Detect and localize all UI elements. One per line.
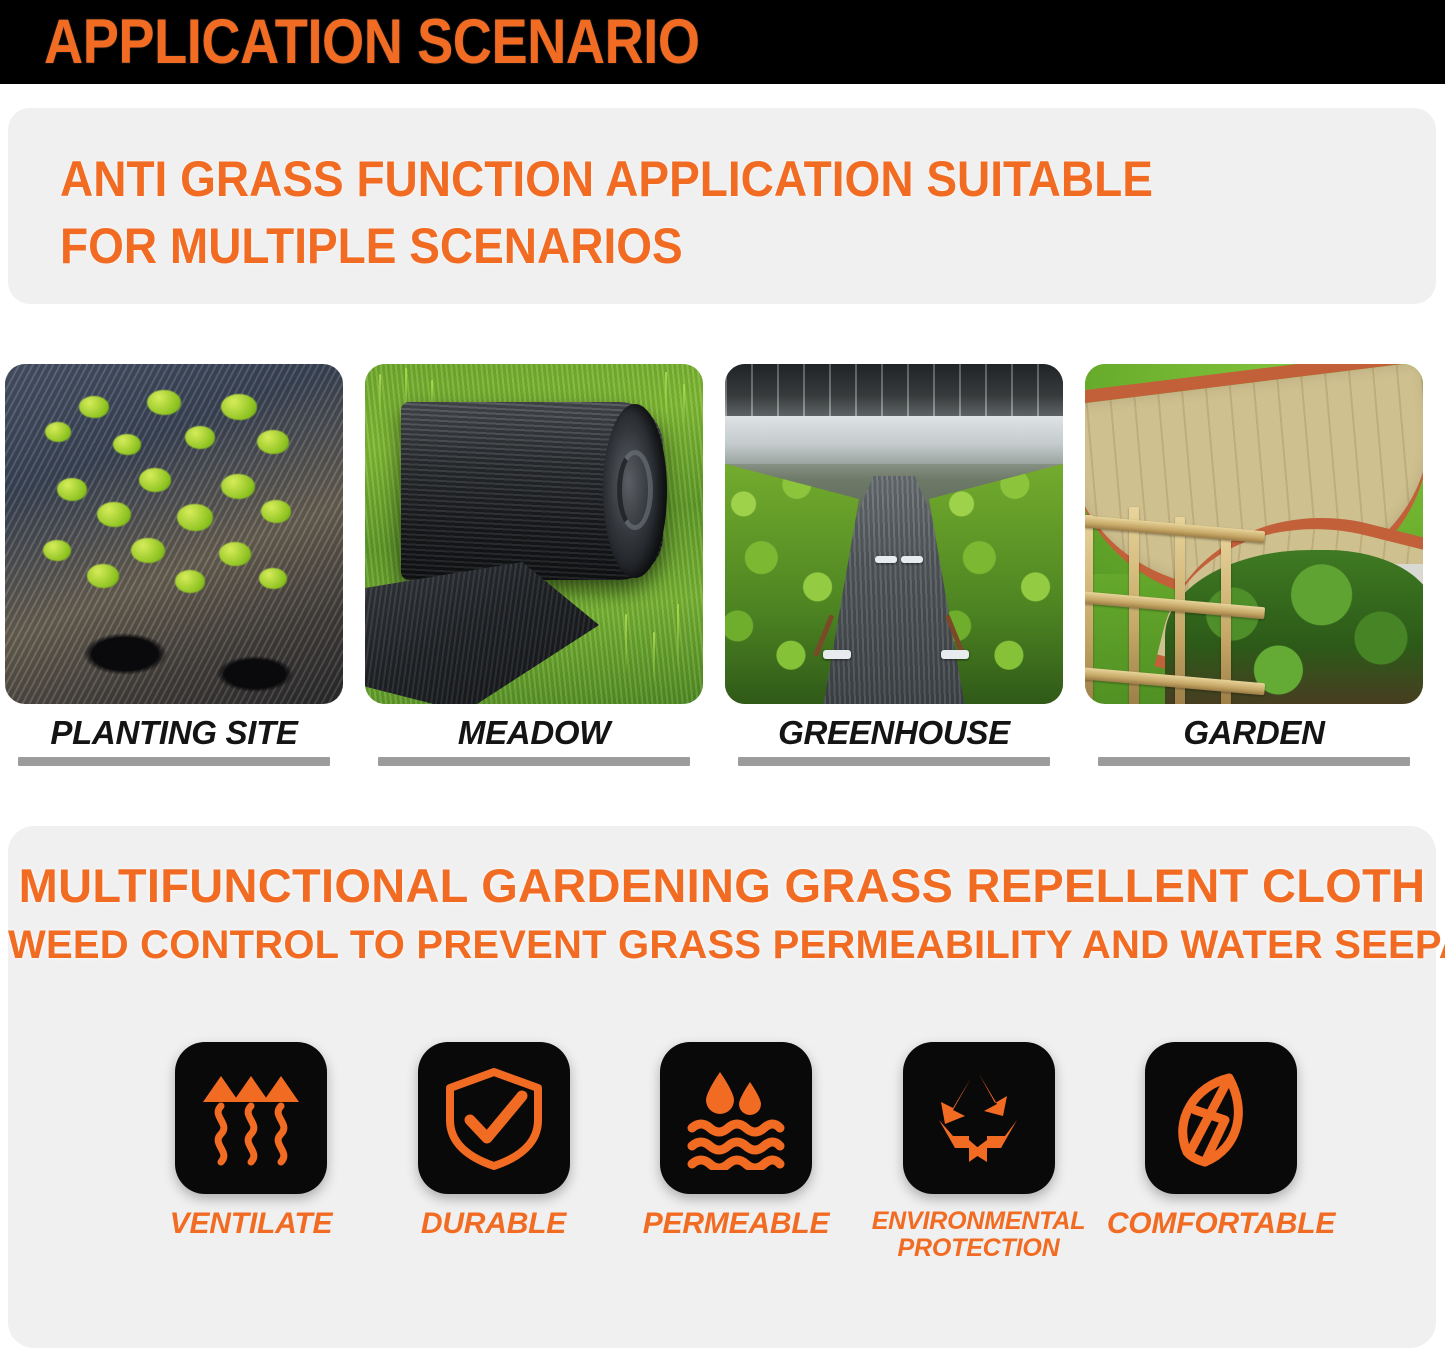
unrolled-fabric-sheet (365, 562, 599, 704)
ventilate-label: VENTILATE (170, 1208, 333, 1240)
greenhouse-roof (725, 364, 1063, 416)
fabric-roll (401, 402, 663, 580)
greenhouse-background (725, 412, 1063, 464)
feature-item-environmental-protection: ENVIRONMENTAL PROTECTION (884, 1042, 1074, 1261)
environmental-protection-tile (903, 1042, 1055, 1194)
recycle-icon (927, 1066, 1031, 1170)
caption-label: GARDEN (1085, 716, 1423, 751)
feature-icon-row: VENTILATE DURABLE (156, 1042, 1316, 1261)
feature-subhead: WEED CONTROL TO PREVENT GRASS PERMEABILI… (8, 923, 1436, 968)
scenario-card-greenhouse (725, 364, 1063, 704)
caption-label: PLANTING SITE (5, 716, 343, 751)
caption-garden: GARDEN (1085, 716, 1423, 784)
roll-spiral (617, 450, 653, 530)
wooden-trellis (1085, 495, 1279, 704)
caption-underline (1098, 757, 1410, 766)
greenhouse-photo (725, 364, 1063, 704)
infographic-page: APPLICATION SCENARIO ANTI GRASS FUNCTION… (0, 0, 1445, 1353)
caption-label: GREENHOUSE (725, 716, 1063, 751)
durable-label: DURABLE (421, 1208, 566, 1240)
page-title: APPLICATION SCENARIO (44, 11, 700, 74)
scenario-caption-row: PLANTING SITE MEADOW GREENHOUSE GARDEN (5, 716, 1441, 784)
caption-meadow: MEADOW (365, 716, 703, 784)
comfortable-label: COMFORTABLE (1107, 1208, 1335, 1240)
scenario-card-planting-site (5, 364, 343, 704)
caption-underline (378, 757, 690, 766)
permeable-label: PERMEABLE (643, 1208, 830, 1240)
feature-item-permeable: PERMEABLE (641, 1042, 831, 1261)
feature-item-durable: DURABLE (399, 1042, 589, 1261)
scenario-card-garden (1085, 364, 1423, 704)
feature-panel: MULTIFUNCTIONAL GARDENING GRASS REPELLEN… (8, 826, 1436, 1348)
feature-item-ventilate: VENTILATE (156, 1042, 346, 1261)
caption-greenhouse: GREENHOUSE (725, 716, 1063, 784)
caption-planting-site: PLANTING SITE (5, 716, 343, 784)
caption-underline (738, 757, 1050, 766)
header-bar: APPLICATION SCENARIO (0, 0, 1445, 84)
planting-site-photo (5, 364, 343, 704)
leaf-cluster (35, 382, 305, 612)
permeable-tile (660, 1042, 812, 1194)
garden-photo (1085, 364, 1423, 704)
durable-tile (418, 1042, 570, 1194)
airflow-arrows-icon (199, 1066, 303, 1170)
leaf-icon (1169, 1066, 1273, 1170)
feature-item-comfortable: COMFORTABLE (1126, 1042, 1316, 1261)
meadow-photo (365, 364, 703, 704)
scenario-card-meadow (365, 364, 703, 704)
shield-check-icon (442, 1066, 546, 1170)
subtitle-text: ANTI GRASS FUNCTION APPLICATION SUITABLE… (60, 146, 1256, 279)
subtitle-panel: ANTI GRASS FUNCTION APPLICATION SUITABLE… (8, 108, 1436, 304)
feature-headline: MULTIFUNCTIONAL GARDENING GRASS REPELLEN… (8, 858, 1436, 913)
scenario-image-row (5, 364, 1441, 704)
caption-underline (18, 757, 330, 766)
comfortable-tile (1145, 1042, 1297, 1194)
water-droplets-waves-icon (684, 1066, 788, 1170)
environmental-protection-label: ENVIRONMENTAL PROTECTION (872, 1208, 1086, 1261)
caption-label: MEADOW (365, 716, 703, 751)
ventilate-tile (175, 1042, 327, 1194)
